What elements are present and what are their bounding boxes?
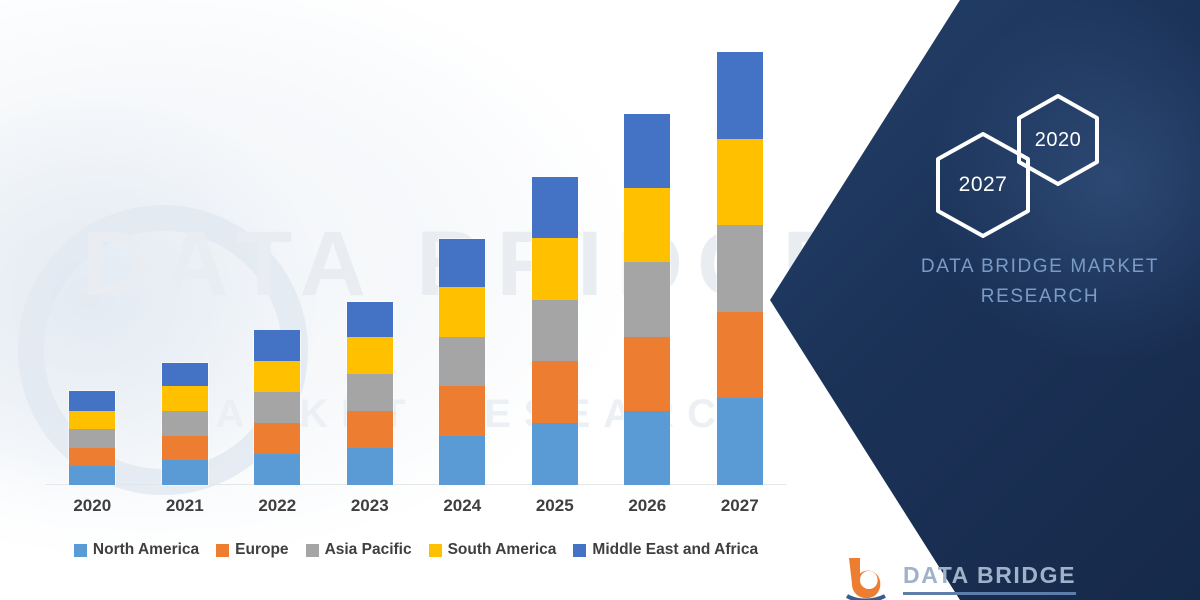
bar-column: [46, 391, 139, 485]
bar-segment: [254, 330, 300, 361]
bar-segment: [162, 436, 208, 461]
plot-area: [46, 40, 786, 485]
bar-segment: [439, 337, 485, 386]
bar-segment: [624, 262, 670, 336]
legend-label: Europe: [235, 541, 288, 559]
bar-segment: [347, 411, 393, 448]
bar-segment: [624, 188, 670, 262]
hexagon-label-2020: 2020: [1035, 129, 1082, 152]
bar-segment: [69, 411, 115, 430]
bar-segment: [254, 454, 300, 485]
bar-segment: [439, 287, 485, 336]
x-axis-label: 2027: [694, 496, 787, 516]
stacked-bar-2023: [347, 302, 393, 485]
stacked-bar-2022: [254, 331, 300, 486]
x-axis-label: 2023: [324, 496, 417, 516]
stacked-bar-chart: 20202021202220232024202520262027 North A…: [0, 0, 800, 600]
bar-segment: [717, 312, 763, 399]
x-axis-label: 2022: [231, 496, 324, 516]
bar-segment: [717, 398, 763, 485]
footer-logo-text: DATA BRIDGE: [903, 562, 1076, 595]
bar-segment: [254, 361, 300, 392]
bar-segment: [347, 448, 393, 485]
bar-segment: [624, 411, 670, 485]
stacked-bar-2025: [532, 177, 578, 485]
bar-segment: [254, 392, 300, 423]
bar-segment: [254, 423, 300, 454]
legend-label: South America: [448, 541, 557, 559]
bar-segment: [69, 466, 115, 485]
chart-legend: North AmericaEuropeAsia PacificSouth Ame…: [46, 541, 786, 559]
bar-segment: [347, 374, 393, 411]
bar-column: [509, 177, 602, 485]
bar-segment: [439, 386, 485, 435]
bar-column: [324, 302, 417, 485]
bar-segment: [532, 238, 578, 300]
bar-column: [601, 114, 694, 485]
bar-group: [46, 40, 786, 485]
bar-column: [694, 52, 787, 485]
legend-item[interactable]: Middle East and Africa: [573, 541, 758, 559]
x-axis-label: 2020: [46, 496, 139, 516]
bar-segment: [162, 386, 208, 411]
legend-item[interactable]: Asia Pacific: [306, 541, 412, 559]
chart-infographic: DATA BRIDGE MARKET RESEARCH 202020212022…: [0, 0, 1200, 600]
x-axis-label: 2024: [416, 496, 509, 516]
legend-item[interactable]: South America: [429, 541, 557, 559]
hexagon-badge-end-year: 2020: [1016, 93, 1100, 187]
bar-column: [231, 331, 324, 486]
bar-segment: [532, 361, 578, 423]
legend-swatch-icon: [216, 544, 229, 557]
bar-column: [139, 363, 232, 485]
brand-line-2: RESEARCH: [890, 282, 1190, 312]
legend-swatch-icon: [306, 544, 319, 557]
hexagon-label-2027: 2027: [959, 173, 1008, 197]
legend-swatch-icon: [573, 544, 586, 557]
stacked-bar-2024: [439, 239, 485, 485]
bar-segment: [347, 337, 393, 374]
legend-item[interactable]: Europe: [216, 541, 288, 559]
brand-name: DATA BRIDGE MARKET RESEARCH: [890, 252, 1190, 312]
x-axis-label: 2026: [601, 496, 694, 516]
legend-swatch-icon: [74, 544, 87, 557]
bar-segment: [69, 391, 115, 411]
bar-column: [416, 239, 509, 485]
stacked-bar-2027: [717, 52, 763, 485]
bar-segment: [717, 139, 763, 226]
bar-segment: [69, 448, 115, 467]
brand-line-1: DATA BRIDGE MARKET: [890, 252, 1190, 282]
legend-label: Middle East and Africa: [592, 541, 758, 559]
bar-segment: [439, 239, 485, 287]
bar-segment: [69, 429, 115, 448]
stacked-bar-2021: [162, 363, 208, 485]
bar-segment: [162, 460, 208, 485]
legend-swatch-icon: [429, 544, 442, 557]
legend-label: Asia Pacific: [325, 541, 412, 559]
stacked-bar-2026: [624, 114, 670, 485]
footer-logo: DATA BRIDGE: [845, 556, 1076, 600]
data-bridge-mark-icon: [845, 556, 891, 600]
x-axis-label: 2025: [509, 496, 602, 516]
bar-segment: [624, 337, 670, 411]
bar-segment: [624, 114, 670, 188]
x-axis-labels: 20202021202220232024202520262027: [46, 496, 786, 516]
bar-segment: [717, 52, 763, 139]
legend-item[interactable]: North America: [74, 541, 199, 559]
bar-segment: [532, 423, 578, 485]
stacked-bar-2020: [69, 391, 115, 485]
bar-segment: [347, 302, 393, 337]
bar-segment: [717, 225, 763, 312]
bar-segment: [162, 363, 208, 386]
bar-segment: [439, 436, 485, 485]
bar-segment: [162, 411, 208, 436]
legend-label: North America: [93, 541, 199, 559]
bar-segment: [532, 177, 578, 238]
x-axis-label: 2021: [139, 496, 232, 516]
bar-segment: [532, 300, 578, 362]
